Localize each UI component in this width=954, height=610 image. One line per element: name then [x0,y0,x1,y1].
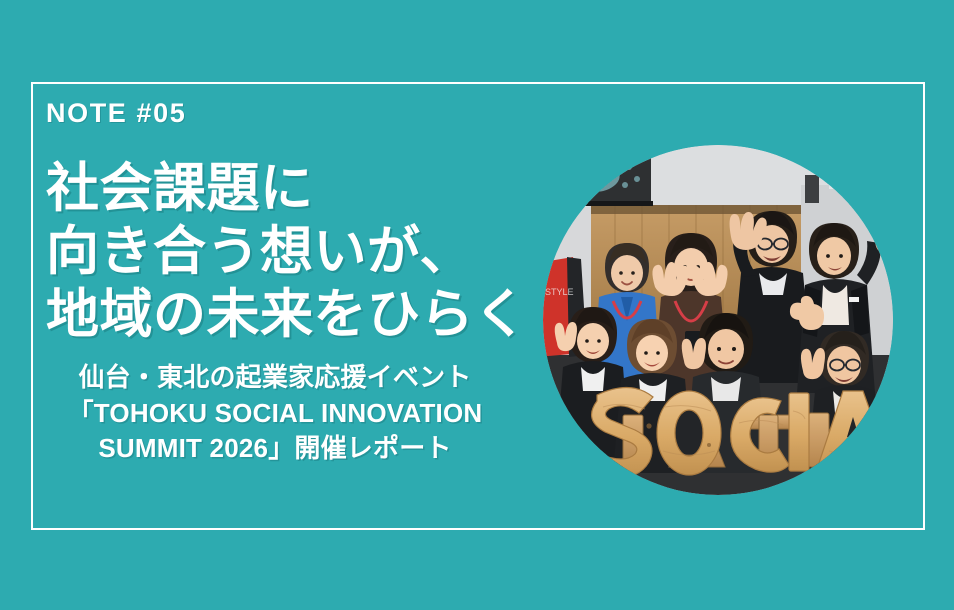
headline-line-1: 社会課題に [46,157,526,220]
text-column: NOTE #05 社会課題に 向き合う想いが、 地域の未来をひらく 仙台・東北の… [46,100,526,467]
note-number-label: NOTE #05 [46,100,526,127]
subtitle-line-1: 仙台・東北の起業家応援イベント [46,360,504,396]
page-subtitle: 仙台・東北の起業家応援イベント 「TOHOKU SOCIAL INNOVATIO… [46,360,504,467]
subtitle-line-2: 「TOHOKU SOCIAL INNOVATION [46,396,504,432]
subtitle-line-3: SUMMIT 2026」開催レポート [46,431,504,467]
group-photo: STYLE [543,145,893,495]
page-title: 社会課題に 向き合う想いが、 地域の未来をひらく [46,157,526,346]
headline-line-2: 向き合う想いが、 [46,220,526,283]
note-banner: NOTE #05 社会課題に 向き合う想いが、 地域の未来をひらく 仙台・東北の… [0,0,954,610]
headline-line-3: 地域の未来をひらく [46,283,526,346]
